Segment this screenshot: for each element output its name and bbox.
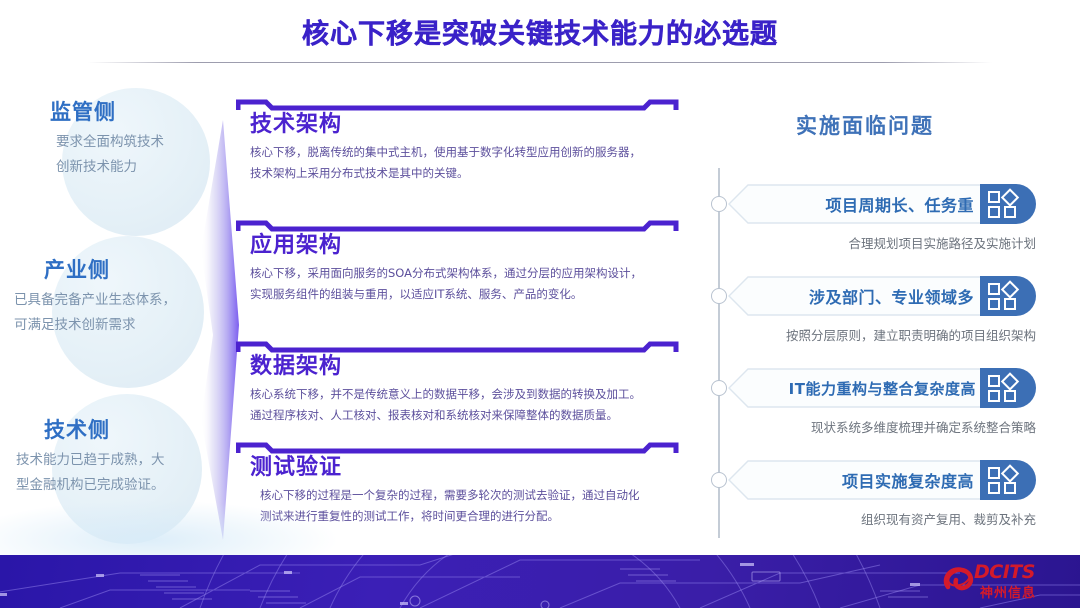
- card-line: 核心系统下移，并不是传统意义上的数据平移，会涉及到数据的转换及加工。: [250, 384, 676, 405]
- card-line: 实现服务组件的组装与重用，以适应IT系统、服务、产品的变化。: [250, 284, 676, 305]
- logo-subtitle: 神州信息: [980, 582, 1036, 601]
- issue-label: IT能力重构与整合复杂度高: [789, 378, 976, 399]
- card-title: 数据架构: [250, 352, 676, 382]
- page-title: 核心下移是突破关键技术能力的必选题: [0, 12, 1080, 51]
- card-line: 技术架构上采用分布式技术是其中的关键。: [250, 163, 676, 184]
- footer-banner: DCITS 神州信息: [0, 555, 1080, 608]
- issue-item-departments[interactable]: 涉及部门、专业领域多 按照分层原则，建立职责明确的项目组织架构: [728, 276, 1046, 344]
- issue-sub: 组织现有资产复用、裁剪及补充: [728, 509, 1040, 528]
- card-line: 核心下移，脱离传统的集中式主机，使用基于数字化转型应用创新的服务器，: [250, 142, 676, 163]
- architecture-cards: 技术架构 核心下移，脱离传统的集中式主机，使用基于数字化转型应用创新的服务器， …: [236, 96, 688, 546]
- card-data-architecture[interactable]: 数据架构 核心系统下移，并不是传统意义上的数据平移，会涉及到数据的转换及加工。 …: [236, 338, 686, 450]
- issue-label: 项目实施复杂度高: [842, 468, 974, 492]
- card-content: 技术架构 核心下移，脱离传统的集中式主机，使用基于数字化转型应用创新的服务器， …: [236, 96, 686, 184]
- issue-label: 项目周期长、任务重: [825, 192, 974, 216]
- card-content: 数据架构 核心系统下移，并不是传统意义上的数据平移，会涉及到数据的转换及加工。 …: [236, 338, 686, 426]
- timeline-dot: [711, 196, 727, 212]
- card-application-architecture[interactable]: 应用架构 核心下移，采用面向服务的SOA分布式架构体系，通过分层的应用架构设计，…: [236, 217, 686, 329]
- timeline-dot: [711, 288, 727, 304]
- issue-item-project-cycle[interactable]: 项目周期长、任务重 合理规划项目实施路径及实施计划: [728, 184, 1046, 252]
- issue-pill[interactable]: IT能力重构与整合复杂度高: [728, 368, 1036, 408]
- company-logo: DCITS 神州信息: [940, 561, 1066, 603]
- circuit-pattern: [0, 555, 1080, 608]
- timeline-dot: [711, 472, 727, 488]
- card-title: 测试验证: [250, 453, 676, 483]
- logo-wordmark: DCITS: [974, 561, 1035, 583]
- four-shapes-icon: [980, 184, 1036, 224]
- right-panel-title: 实施面临问题: [700, 110, 1030, 140]
- issue-sub: 现状系统多维度梳理并确定系统整合策略: [728, 417, 1040, 436]
- timeline-dot: [711, 380, 727, 396]
- right-panel: 实施面临问题 项目周期长、任务重: [700, 96, 1072, 556]
- slide-canvas: 核心下移是突破关键技术能力的必选题 监管侧 要求全面构筑技术 创新技术能力 产业…: [0, 0, 1080, 608]
- four-shapes-icon: [980, 368, 1036, 408]
- four-shapes-icon: [980, 276, 1036, 316]
- card-title: 应用架构: [250, 231, 676, 261]
- issue-label: 涉及部门、专业领域多: [809, 284, 974, 308]
- page-title-wrap: 核心下移是突破关键技术能力的必选题: [0, 12, 1080, 51]
- title-divider: [88, 62, 992, 63]
- issue-item-it-capability[interactable]: IT能力重构与整合复杂度高 现状系统多维度梳理并确定系统整合策略: [728, 368, 1046, 436]
- issue-sub: 按照分层原则，建立职责明确的项目组织架构: [728, 325, 1040, 344]
- issue-sub: 合理规划项目实施路径及实施计划: [728, 233, 1040, 252]
- card-line: 核心下移，采用面向服务的SOA分布式架构体系，通过分层的应用架构设计，: [250, 263, 676, 284]
- card-tech-architecture[interactable]: 技术架构 核心下移，脱离传统的集中式主机，使用基于数字化转型应用创新的服务器， …: [236, 96, 686, 208]
- issue-pill[interactable]: 项目实施复杂度高: [728, 460, 1036, 500]
- card-title: 技术架构: [250, 110, 676, 140]
- issue-pill[interactable]: 项目周期长、任务重: [728, 184, 1036, 224]
- issue-item-implementation[interactable]: 项目实施复杂度高 组织现有资产复用、裁剪及补充: [728, 460, 1046, 528]
- four-shapes-icon: [980, 460, 1036, 500]
- card-content: 应用架构 核心下移，采用面向服务的SOA分布式架构体系，通过分层的应用架构设计，…: [236, 217, 686, 305]
- issue-pill[interactable]: 涉及部门、专业领域多: [728, 276, 1036, 316]
- card-line: 通过程序核对、人工核对、报表核对和系统核对来保障整体的数据质量。: [250, 405, 676, 426]
